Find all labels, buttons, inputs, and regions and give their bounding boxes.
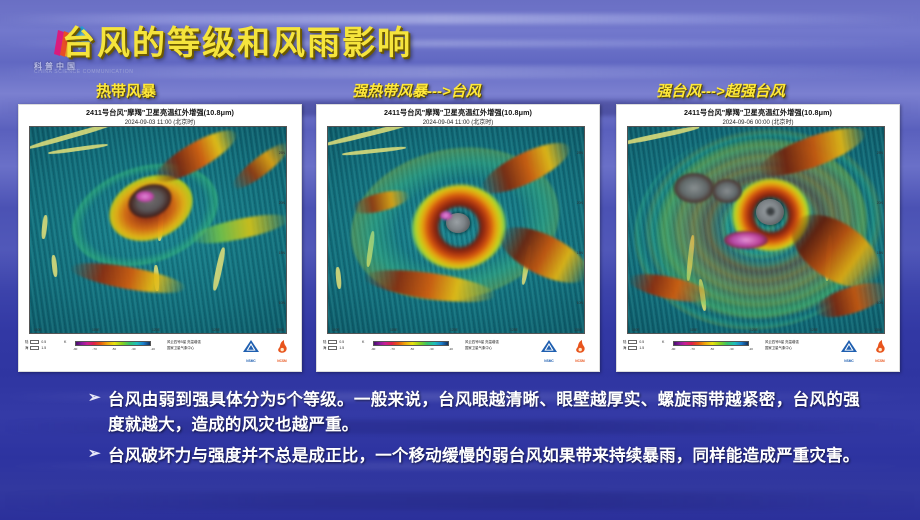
legend-swatch: [30, 340, 39, 344]
lon-tick: 120E: [450, 328, 458, 332]
colorbar-unit: K: [662, 340, 664, 344]
lat-tick: 20N: [279, 201, 285, 205]
lon-tick: 125E: [212, 328, 220, 332]
logo-subtitle-en: CHINA SCIENCE COMMUNICATION: [34, 69, 133, 75]
ncsm-logo-icon: NCSM: [569, 339, 591, 359]
coldest-cloud-top: [136, 191, 154, 202]
nsmc-logo-caption: NSMC: [539, 359, 559, 363]
legend-info-line: 国家卫星气象中心: [465, 346, 499, 352]
legend-info-line: 国家卫星气象中心: [765, 346, 799, 352]
lat-tick: 20N: [877, 201, 883, 205]
lat-tick: 10N: [279, 301, 285, 305]
legend-swatch: [628, 346, 637, 350]
colorbar-tick: -90: [671, 347, 675, 351]
lat-tick: 25N: [577, 151, 583, 155]
satellite-ir-image: 110E 115E 120E 125E 130E 25N 20N 15N 10N: [29, 126, 287, 334]
lon-tick: 125E: [510, 328, 518, 332]
legend-label-land: 陆: [25, 340, 28, 344]
nsmc-logo-icon: NSMC: [241, 339, 261, 359]
brightness-temperature-colorbar: [673, 341, 749, 346]
colorbar-ticks: -90 -70 -50 -30 -20: [371, 347, 453, 351]
ncsm-logo-caption: NCSM: [569, 359, 591, 363]
lon-tick: 110E: [34, 328, 42, 332]
lon-tick: 125E: [810, 328, 818, 332]
colorbar-tick: -90: [371, 347, 375, 351]
legend-label-sea: 海: [323, 346, 326, 350]
legend-info-line: 风云四号B星 亮温增强: [465, 340, 499, 346]
bullet-marker-icon: ➢: [88, 446, 101, 461]
legend-info-line: 风云四号B星 亮温增强: [765, 340, 799, 346]
legend-info: 风云四号B星 亮温增强 国家卫星气象中心: [167, 340, 201, 351]
lat-tick: 15N: [577, 251, 583, 255]
legend-value-land: 0.5: [639, 340, 644, 344]
lat-tick: 10N: [877, 301, 883, 305]
ncsm-logo-caption: NCSM: [869, 359, 891, 363]
legend-info-line: 风云四号B星 亮温增强: [167, 340, 201, 346]
column-heading-super-typhoon: 强台风--->超强台风: [656, 80, 785, 101]
coldest-cloud-top: [724, 231, 768, 249]
colorbar-unit: K: [64, 340, 66, 344]
cold-cloud-top: [712, 179, 742, 203]
legend-value-sea: 1.5: [41, 346, 46, 350]
lat-tick: 10N: [577, 301, 583, 305]
colorbar-tick: -30: [729, 347, 733, 351]
legend-info: 风云四号B星 亮温增强 国家卫星气象中心: [765, 340, 799, 351]
brightness-temperature-colorbar: [75, 341, 151, 346]
presentation-slide: 科普中国 CHINA SCIENCE COMMUNICATION 台风的等级和风…: [0, 0, 920, 520]
legend-swatches: 陆0.5 海1.5: [323, 339, 344, 351]
colorbar-tick: -70: [92, 347, 96, 351]
ncsm-logo-icon: NCSM: [869, 339, 891, 359]
satellite-image-panel-2[interactable]: 2411号台风"摩羯"卫星亮温红外增强(10.8μm) 2024-09-04 1…: [316, 104, 600, 372]
lat-tick: 20N: [577, 201, 583, 205]
colorbar-tick: -50: [410, 347, 414, 351]
legend-value-land: 0.5: [41, 340, 46, 344]
panel-legend: 陆0.5 海1.5 K -90 -70 -50 -30 -20 风云四号B星 亮…: [19, 337, 301, 361]
ncsm-logo-icon: NCSM: [271, 339, 293, 359]
legend-swatch: [328, 340, 337, 344]
lat-tick: 15N: [279, 251, 285, 255]
lon-tick: 110E: [632, 328, 640, 332]
nsmc-logo-caption: NSMC: [241, 359, 261, 363]
lon-tick: 120E: [152, 328, 160, 332]
colorbar-unit: K: [362, 340, 364, 344]
bullet-text: 台风破坏力与强度并不总是成正比，一个移动缓慢的弱台风如果带来持续暴雨，同样能造成…: [108, 444, 860, 469]
legend-value-land: 0.5: [339, 340, 344, 344]
lon-tick: 110E: [332, 328, 340, 332]
colorbar-tick: -20: [749, 347, 753, 351]
legend-label-land: 陆: [623, 340, 626, 344]
page-title: 台风的等级和风雨影响: [62, 16, 412, 64]
background-streak: [0, 492, 920, 510]
bullet-text: 台风由弱到强具体分为5个等级。一般来说，台风眼越清晰、眼壁越厚实、螺旋雨带越紧密…: [108, 388, 860, 438]
lat-tick: 25N: [877, 151, 883, 155]
panel-timestamp: 2024-09-03 11:00 (北京时): [19, 117, 301, 126]
colorbar-tick: -20: [449, 347, 453, 351]
slide-header: 科普中国 CHINA SCIENCE COMMUNICATION 台风的等级和风…: [0, 0, 920, 78]
lon-tick: 120E: [750, 328, 758, 332]
lat-tick: 25N: [279, 151, 285, 155]
colorbar-tick: -50: [112, 347, 116, 351]
legend-info-line: 国家卫星气象中心: [167, 346, 201, 352]
bullet-marker-icon: ➢: [88, 390, 101, 405]
ncsm-logo-caption: NCSM: [271, 359, 293, 363]
lon-tick: 115E: [390, 328, 398, 332]
satellite-image-panel-1[interactable]: 2411号台风"摩羯"卫星亮温红外增强(10.8μm) 2024-09-03 1…: [18, 104, 302, 372]
eye-center: [766, 207, 775, 216]
lon-tick: 130E: [874, 328, 882, 332]
panel-timestamp: 2024-09-04 11:00 (北京时): [317, 117, 599, 126]
legend-swatches: 陆0.5 海1.5: [623, 339, 644, 351]
bullet-list: ➢ 台风由弱到强具体分为5个等级。一般来说，台风眼越清晰、眼壁越厚实、螺旋雨带越…: [0, 388, 920, 475]
colorbar-tick: -30: [131, 347, 135, 351]
lon-tick: 115E: [92, 328, 100, 332]
colorbar-ticks: -90 -70 -50 -30 -20: [73, 347, 155, 351]
column-heading-severe-tropical-storm: 强热带风暴--->台风: [352, 80, 481, 101]
brightness-temperature-colorbar: [373, 341, 449, 346]
satellite-image-panel-3[interactable]: 2411号台风"摩羯"卫星亮温红外增强(10.8μm) 2024-09-06 0…: [616, 104, 900, 372]
colorbar-ticks: -90 -70 -50 -30 -20: [671, 347, 753, 351]
nsmc-logo-icon: NSMC: [539, 339, 559, 359]
colorbar-tick: -70: [690, 347, 694, 351]
panel-legend: 陆0.5 海1.5 K -90 -70 -50 -30 -20 风云四号B星 亮…: [317, 337, 599, 361]
list-item: ➢ 台风破坏力与强度并不总是成正比，一个移动缓慢的弱台风如果带来持续暴雨，同样能…: [0, 444, 920, 469]
legend-swatch: [30, 346, 39, 350]
colorbar-tick: -70: [390, 347, 394, 351]
satellite-ir-image: 110E 115E 120E 125E 130E 25N 20N 15N 10N: [627, 126, 885, 334]
legend-label-land: 陆: [323, 340, 326, 344]
satellite-ir-image: 110E 115E 120E 125E 130E 25N 20N 15N 10N: [327, 126, 585, 334]
legend-label-sea: 海: [25, 346, 28, 350]
lon-tick: 130E: [276, 328, 284, 332]
legend-swatches: 陆0.5 海1.5: [25, 339, 46, 351]
coldest-cloud-top: [440, 211, 452, 220]
legend-swatch: [628, 340, 637, 344]
colorbar-tick: -20: [151, 347, 155, 351]
colorbar-tick: -30: [429, 347, 433, 351]
lon-tick: 115E: [690, 328, 698, 332]
lon-tick: 130E: [574, 328, 582, 332]
nsmc-logo-caption: NSMC: [839, 359, 859, 363]
colorbar-tick: -90: [73, 347, 77, 351]
colorbar-tick: -50: [710, 347, 714, 351]
legend-value-sea: 1.5: [639, 346, 644, 350]
legend-label-sea: 海: [623, 346, 626, 350]
legend-value-sea: 1.5: [339, 346, 344, 350]
lat-tick: 15N: [877, 251, 883, 255]
cold-cloud-top: [674, 173, 714, 203]
panel-legend: 陆0.5 海1.5 K -90 -70 -50 -30 -20 风云四号B星 亮…: [617, 337, 899, 361]
column-heading-tropical-storm: 热带风暴: [96, 80, 156, 101]
panel-timestamp: 2024-09-06 00:00 (北京时): [617, 117, 899, 126]
legend-swatch: [328, 346, 337, 350]
legend-info: 风云四号B星 亮温增强 国家卫星气象中心: [465, 340, 499, 351]
list-item: ➢ 台风由弱到强具体分为5个等级。一般来说，台风眼越清晰、眼壁越厚实、螺旋雨带越…: [0, 388, 920, 438]
nsmc-logo-icon: NSMC: [839, 339, 859, 359]
